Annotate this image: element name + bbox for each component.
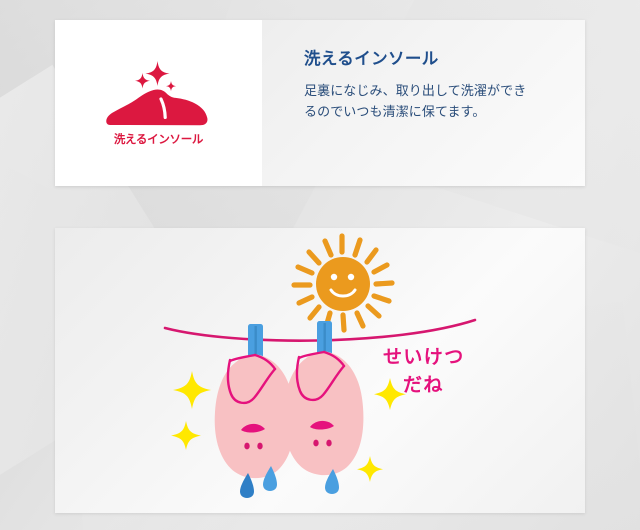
feature-title: 洗えるインソール [304,50,557,70]
smiling-sun-icon [294,236,392,330]
insole-eye [313,440,318,447]
insole-body [284,351,364,475]
insole-eye [257,443,262,450]
insole-logo-caption: 洗えるインソール [97,134,221,147]
clothespin-spring [324,323,326,353]
feature-description: 足裏になじみ、取り出して洗濯ができるのでいつも清潔に保てます。 [304,80,536,122]
sparkling-shoe-icon: 洗えるインソール [97,59,221,147]
clothespin-spring [255,326,257,356]
insole-right [284,321,364,475]
feature-card: 洗えるインソール 洗えるインソール 足裏になじみ、取り出して洗濯ができるのでいつ… [55,20,585,186]
feature-text-pane: 洗えるインソール 足裏になじみ、取り出して洗濯ができるのでいつも清潔に保てます。 [262,20,585,186]
illustration-caption-line1: せいけつ [383,347,465,368]
insole-eye [326,440,331,447]
insole-left [215,324,295,478]
illustration-card: せいけつ だね [55,228,585,513]
insole-body [215,354,295,478]
feature-logo-pane: 洗えるインソール [55,20,262,186]
hanging-insoles-illustration: せいけつ だね [155,228,485,513]
page-root: 洗えるインソール 洗えるインソール 足裏になじみ、取り出して洗濯ができるのでいつ… [0,0,640,530]
illustration-caption-line2: だね [403,374,444,396]
insole-eye [244,443,249,450]
